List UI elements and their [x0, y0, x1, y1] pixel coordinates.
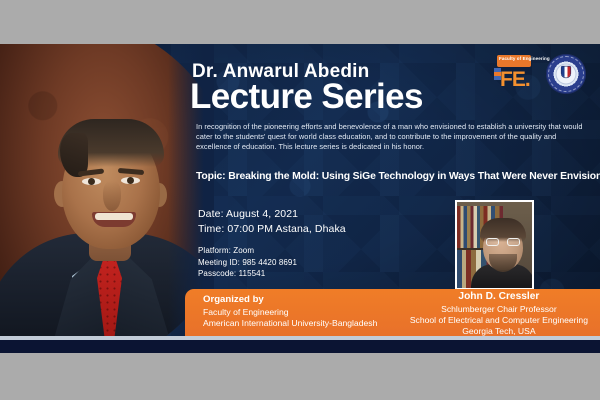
description-text: In recognition of the pioneering efforts… — [196, 122, 588, 153]
speaker-affiliation: Georgia Tech, USA — [410, 326, 588, 337]
details-spacer — [198, 236, 346, 245]
seal-crest — [562, 67, 571, 78]
event-meeting-id: Meeting ID: 985 4420 8691 — [198, 257, 346, 269]
faculty-of-engineering-logo-icon: Faculty of Engineering FE. — [494, 55, 534, 93]
event-platform: Platform: Zoom — [198, 245, 346, 257]
organizer-title: Organized by — [203, 294, 377, 307]
portrait-mouth — [92, 212, 136, 227]
speaker-photo — [455, 200, 534, 290]
topic-text: Topic: Breaking the Mold: Using SiGe Tec… — [196, 171, 594, 182]
speaker-info-block: John D. Cressler Schlumberger Chair Prof… — [410, 290, 588, 337]
event-passcode: Passcode: 115541 — [198, 268, 346, 280]
organizer-faculty: Faculty of Engineering — [203, 307, 377, 319]
university-seal-icon — [546, 54, 586, 94]
fe-monogram: FE. — [500, 67, 530, 92]
poster-frame: Dr. Anwarul Abedin Lecture Series Facult… — [0, 0, 600, 400]
event-date: Date: August 4, 2021 — [198, 207, 346, 222]
letterbox-top — [0, 0, 600, 44]
speaker-glasses-icon — [486, 238, 520, 246]
portrait-teeth — [95, 213, 133, 220]
fe-tagline-text: Faculty of Engineering — [497, 55, 531, 63]
event-details: Date: August 4, 2021 Time: 07:00 PM Asta… — [198, 207, 346, 280]
portrait-pupil-right — [127, 177, 134, 184]
portrait-nose — [103, 181, 121, 211]
portrait-pupil-left — [88, 178, 95, 185]
speaker-department: School of Electrical and Computer Engine… — [410, 315, 588, 326]
honoree-portrait — [0, 44, 214, 353]
footer-orange-bar: Organized by Faculty of Engineering Amer… — [185, 289, 600, 336]
organizer-block: Organized by Faculty of Engineering Amer… — [203, 294, 377, 330]
event-time: Time: 07:00 PM Astana, Dhaka — [198, 222, 346, 237]
letterbox-bottom — [0, 353, 600, 400]
logo-group: Faculty of Engineering FE. — [494, 54, 586, 94]
poster-artwork: Dr. Anwarul Abedin Lecture Series Facult… — [0, 44, 600, 353]
fe-tagline-banner: Faculty of Engineering — [497, 55, 531, 67]
speaker-name: John D. Cressler — [410, 290, 588, 304]
speaker-title: Schlumberger Chair Professor — [410, 304, 588, 315]
organizer-university: American International University-Bangla… — [203, 318, 377, 330]
footer-navy-stripe — [0, 340, 600, 353]
page-title: Lecture Series — [190, 79, 423, 114]
